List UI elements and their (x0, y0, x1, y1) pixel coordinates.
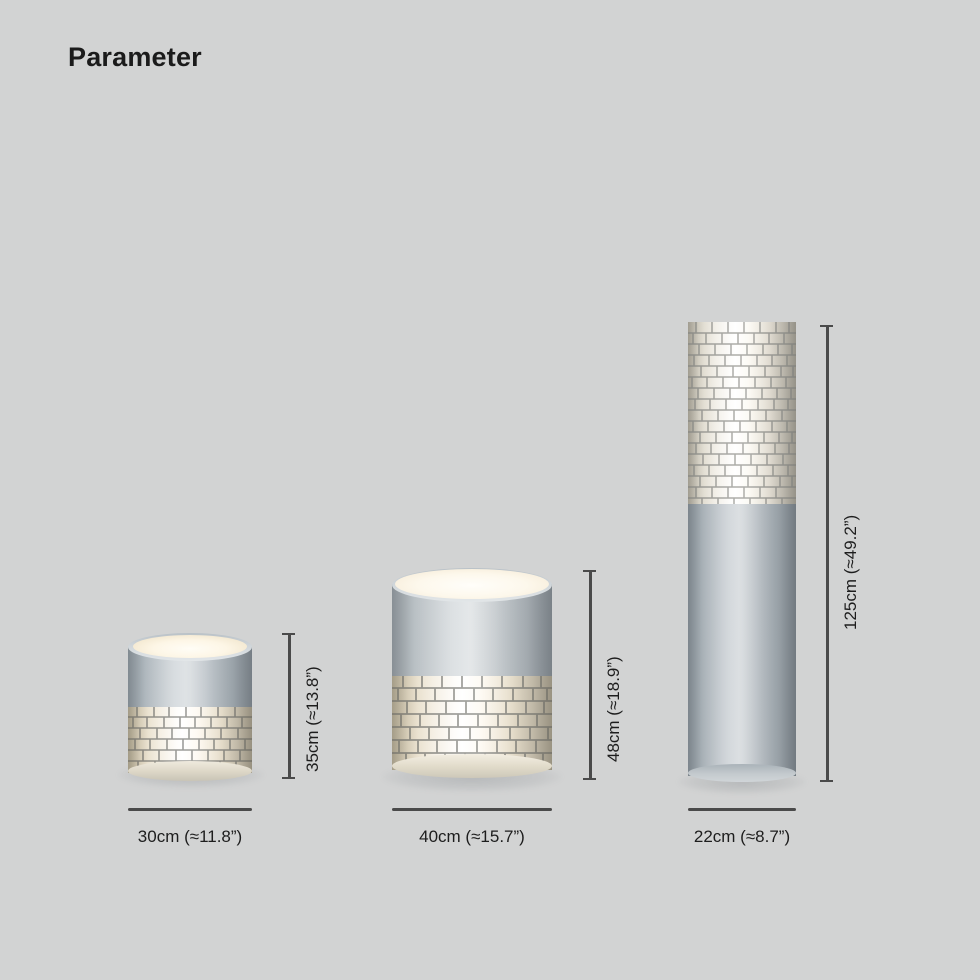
medium-lamp-width-label: 40cm (≈15.7”) (372, 828, 572, 845)
small-lamp-body (128, 633, 252, 779)
medium-lamp-body (392, 568, 552, 780)
small-lamp-height-cap-bottom (282, 777, 295, 779)
bollard-lamp-stone-band (688, 322, 796, 506)
medium-lamp-height-line (589, 570, 592, 780)
medium-lamp-height-label: 48cm (≈18.9”) (605, 656, 622, 762)
small-lamp-height-cap-top (282, 633, 295, 635)
small-lamp-height-label: 35cm (≈13.8”) (304, 666, 321, 772)
stone-pattern-icon (688, 322, 796, 506)
small-lamp-height-line (288, 633, 291, 779)
medium-lamp-base (392, 754, 552, 778)
page-title: Parameter (68, 44, 202, 71)
bollard-lamp-base (688, 764, 796, 782)
bollard-lamp-post (688, 504, 796, 776)
small-lamp-width-line (128, 808, 252, 811)
medium-lamp-height-cap-bottom (583, 778, 596, 780)
small-lamp-base (128, 761, 252, 781)
bollard-lamp-height-cap-top (820, 325, 833, 327)
parameter-diagram: Parameter (0, 0, 980, 980)
medium-lamp-height-cap-top (583, 570, 596, 572)
bollard-lamp-post-shade (688, 504, 796, 776)
bollard-lamp-width-label: 22cm (≈8.7”) (642, 828, 842, 845)
bollard-lamp-height-label: 125cm (≈49.2”) (842, 515, 859, 630)
bollard-lamp-height-line (826, 325, 829, 782)
small-lamp-width-label: 30cm (≈11.8”) (90, 828, 290, 845)
medium-lamp-width-line (392, 808, 552, 811)
bollard-lamp-height-cap-bottom (820, 780, 833, 782)
bollard-lamp-body (688, 322, 796, 784)
small-lamp-top-opening (133, 635, 247, 658)
bollard-lamp-width-line (688, 808, 796, 811)
medium-lamp-top-diffuser (395, 569, 549, 599)
